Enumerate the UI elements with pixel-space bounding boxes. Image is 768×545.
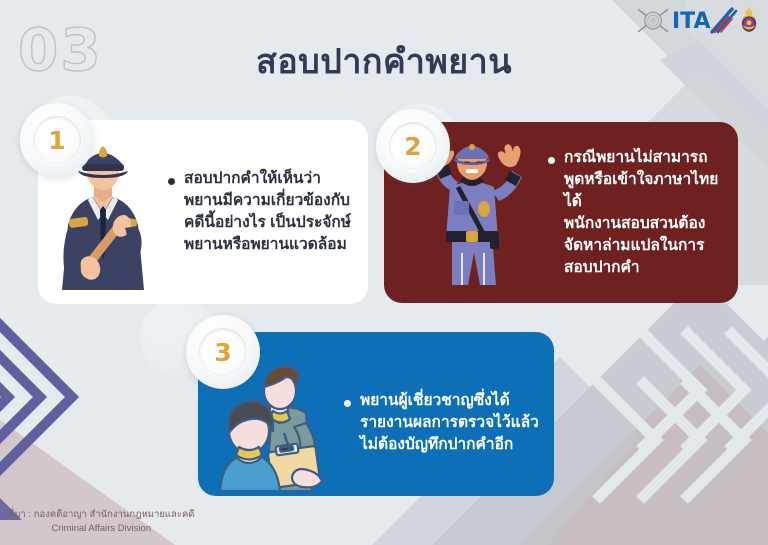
magnifier-seal-icon bbox=[636, 6, 670, 36]
card-2-number-badge: 2 bbox=[376, 109, 450, 183]
footer-line-thai: ที่มา : กองคดีอาญา สำนักงานกฎหมายและคดี bbox=[8, 508, 194, 523]
card-3-number-badge: 3 bbox=[186, 315, 260, 389]
footer-line-english: Criminal Affairs Division bbox=[8, 522, 194, 537]
page-title: สอบปากคำพยาน bbox=[0, 34, 768, 88]
card-3-text: พยานผู้เชี่ยวชาญซึ่งได้ รายงานผลการตรวจไ… bbox=[360, 390, 539, 456]
card-1-text: สอบปากคำให้เห็นว่า พยานมีความเกี่ยวข้องก… bbox=[184, 168, 351, 256]
card-3-bullet: พยานผู้เชี่ยวชาญซึ่งได้ รายงานผลการตรวจไ… bbox=[344, 390, 553, 456]
source-footer: ที่มา : กองคดีอาญา สำนักงานกฎหมายและคดี … bbox=[8, 508, 194, 537]
thai-royal-emblem-icon bbox=[740, 6, 758, 36]
card-2-bullet: กรณีพยานไม่สามารถ พูดหรือเข้าใจภาษาไทยได… bbox=[548, 147, 738, 279]
bullet-dot-icon bbox=[548, 157, 555, 164]
card-2-text: กรณีพยานไม่สามารถ พูดหรือเข้าใจภาษาไทยได… bbox=[564, 147, 724, 279]
ita-text: ITA bbox=[672, 9, 711, 34]
card-3-badge-number: 3 bbox=[214, 340, 231, 365]
card-1-number-badge: 1 bbox=[20, 103, 94, 177]
card-2-badge-number: 2 bbox=[404, 134, 421, 159]
card-1-badge-number: 1 bbox=[48, 128, 65, 153]
card-1-bullet: สอบปากคำให้เห็นว่า พยานมีความเกี่ยวข้องก… bbox=[168, 168, 365, 256]
bullet-dot-icon bbox=[168, 178, 175, 185]
bullet-dot-icon bbox=[344, 400, 351, 407]
ita-wordmark-logo: ITA bbox=[672, 6, 738, 36]
logo-group: ITA bbox=[636, 6, 758, 36]
